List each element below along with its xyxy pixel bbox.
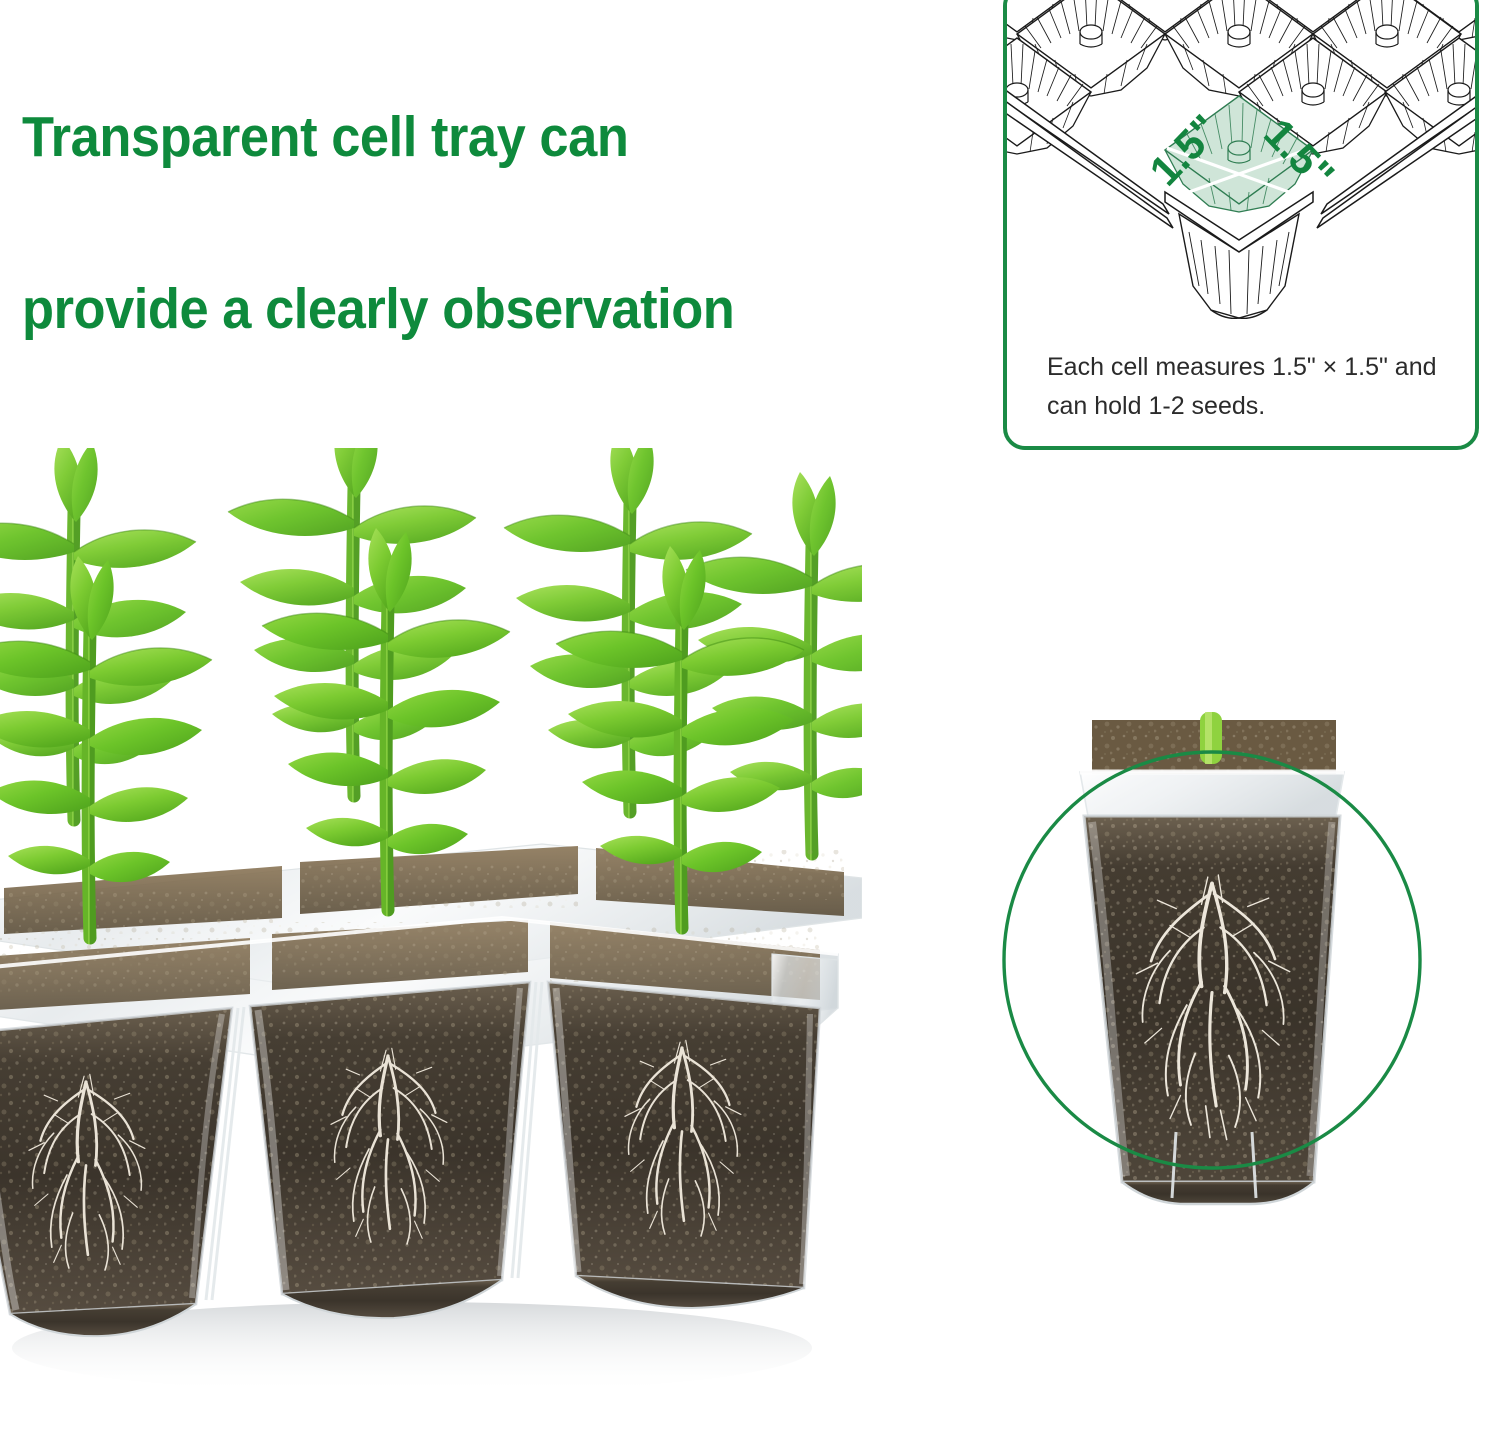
tray-cells-middle-row [1017,0,1461,96]
cell-size-caption: Each cell measures 1.5" × 1.5" and can h… [1047,348,1447,426]
seed-tray-technical-drawing: 1.5" 1.5" [1007,0,1475,338]
tray-cell-1 [0,1008,232,1336]
root-closeup-circle-inset [1000,712,1424,1208]
inset-photo-content [1080,712,1344,1204]
tray-cell-2 [250,982,530,1318]
headline-line-2: provide a clearly observation [22,266,905,352]
cell-size-callout-card: 1.5" 1.5" Each cell measures 1.5" × 1.5"… [1003,0,1479,450]
headline-line-1: Transparent cell tray can [22,94,905,180]
inset-tray-rim [1080,772,1344,816]
tray-cell-3 [548,982,820,1308]
transparent-seed-tray-with-seedlings [0,448,862,1430]
seed-tray [0,844,862,1336]
